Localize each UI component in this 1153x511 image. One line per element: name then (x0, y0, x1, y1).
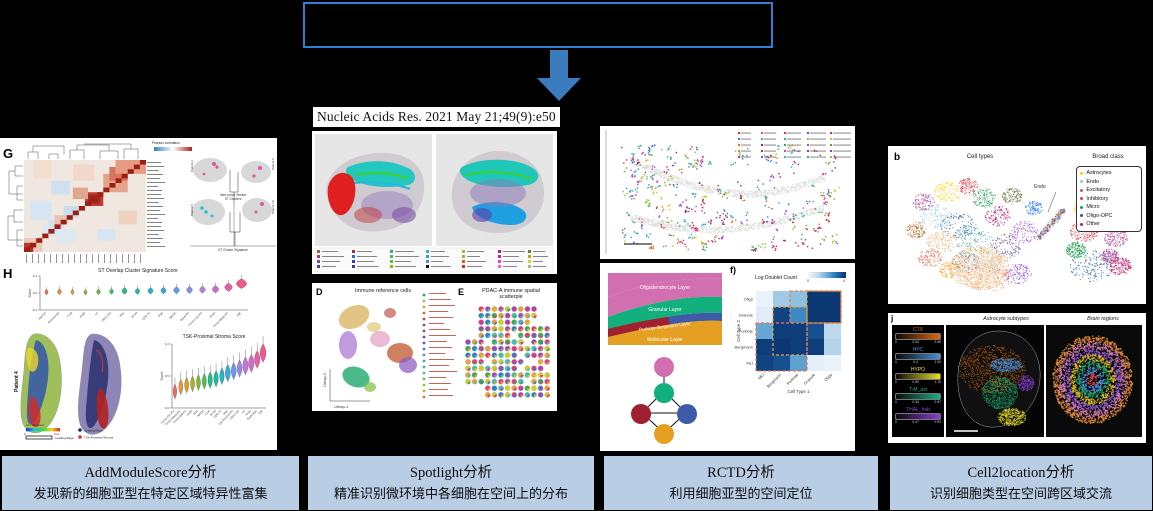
svg-text:Bergmann: Bergmann (735, 344, 753, 349)
svg-text:Mel-DC: Mel-DC (38, 311, 48, 321)
legend-swatch (1080, 223, 1083, 226)
caption-box-addmodulescore[interactable]: AddModuleScore分析 发现新的细胞亚型在特定区域特异性富集 (2, 456, 299, 510)
panel-label-e: E (458, 287, 464, 297)
svg-text:Bergmann: Bergmann (766, 372, 783, 389)
svg-text:Umap-2: Umap-2 (322, 372, 327, 387)
svg-text:Oligo: Oligo (823, 372, 834, 383)
svg-text:Score: Score (28, 288, 32, 297)
umap-mini-group: Inter-tumor Similar ST Clusters ST Clust… (190, 150, 276, 260)
legend-label: Astrocytes (1086, 170, 1111, 176)
svg-text:0.5: 0.5 (165, 374, 170, 378)
stroma-violin-title: TSK-Proximal Stroma Score (158, 334, 270, 340)
figure-panel-rctd-layers: Oligodendrocyte Layer Granular Layer Pur… (600, 263, 855, 451)
svg-text:Cell Type 2: Cell Type 2 (736, 320, 741, 342)
doublet-heatmap-panel: f) Log Doublet Count 0 4 OligoGranulePur… (726, 263, 854, 403)
svg-text:Leading Edge: Leading Edge (84, 429, 103, 433)
legend-item-inhibitory: Inhibitory (1080, 195, 1138, 204)
legend-swatch (1080, 180, 1083, 183)
caption-title-rctd: RCTD分析 (707, 464, 775, 482)
top-empty-box (303, 2, 773, 48)
svg-text:CD8-TC: CD8-TC (141, 311, 151, 321)
svg-text:Patient 2: Patient 2 (190, 160, 194, 172)
svg-text:Oligo: Oligo (744, 296, 754, 301)
svg-text:Patient 4: Patient 4 (14, 371, 20, 392)
legend-label: Other (1086, 221, 1099, 227)
panel-label-g: G (3, 146, 13, 161)
svg-text:Purkinje: Purkinje (785, 372, 799, 386)
broadclass-legend: AstrocytesEndoExcitatoryInhibitoryMicroO… (1076, 166, 1142, 232)
legend-item-endo: Endo (1080, 178, 1138, 187)
svg-text:CD1C-DC: CD1C-DC (100, 311, 112, 323)
svg-text:0.0: 0.0 (33, 291, 38, 295)
svg-text:0.1: 0.1 (33, 274, 38, 278)
svg-text:TSK: TSK (236, 311, 243, 318)
heatmap-row-labels (147, 160, 169, 252)
scatterpie-field (464, 305, 554, 403)
caption-subtitle-spotlight: 精准识别微环境中各细胞在空间上的分布 (334, 486, 568, 502)
svg-text:Patient 10: Patient 10 (271, 200, 275, 214)
svg-text:0: 0 (24, 432, 26, 436)
svg-text:Oligodendrocyte Layer: Oligodendrocyte Layer (640, 285, 691, 291)
svg-text:PSC: PSC (157, 311, 164, 318)
svg-text:Patient 5: Patient 5 (190, 204, 194, 216)
svg-text:Umap-1: Umap-1 (334, 404, 349, 409)
caption-subtitle-addmodulescore: 发现新的细胞亚型在特定区域特异性富集 (33, 486, 267, 502)
endo-callout-label: Endo (1034, 184, 1046, 190)
svg-text:Granular Layer: Granular Layer (648, 307, 682, 313)
figure-panel-cell2location-umap: b Cell types Broad class AstrocytesEndoE… (888, 146, 1146, 304)
caption-box-spotlight[interactable]: Spotlight分析 精准识别微环境中各细胞在空间上的分布 (308, 456, 594, 510)
caption-title-addmodulescore: AddModuleScore分析 (84, 464, 216, 482)
svg-text:TSK: TSK (257, 409, 264, 416)
legend-swatch (1080, 206, 1083, 209)
legend-item-excitatory: Excitatory (1080, 186, 1138, 195)
figure-panel-spotlight-pdac: D Immune reference cells Umap-2 Umap-1 (312, 283, 557, 411)
legend-label: Excitatory (1086, 187, 1110, 193)
legend-item-astrocytes: Astrocytes (1080, 169, 1138, 178)
figure-panel-cell2location-brain: j Astrocyte subtypes Brain regions CTX00… (888, 313, 1146, 443)
svg-text:Basal KC: Basal KC (179, 311, 190, 322)
svg-text:MLI: MLI (746, 360, 753, 365)
svg-text:sc-TSK score: sc-TSK score (26, 423, 44, 427)
svg-text:1.0: 1.0 (165, 342, 170, 346)
svg-text:ST Cluster Signature: ST Cluster Signature (218, 248, 248, 252)
legend-swatch (1080, 189, 1083, 192)
violin-chart-title: ST Overlap Cluster Signature Score (58, 268, 218, 274)
heatmap-legend-title: Pearson correlation (152, 141, 180, 145)
heatmap-left-dendrogram (5, 160, 23, 252)
svg-text:Granule: Granule (739, 312, 754, 317)
figure-panel-spotlight-brains (312, 131, 557, 274)
panel-e-title: PDAC-A immune spatial scatterpie (472, 288, 550, 300)
svg-text:TSK-Proximal Stroma: TSK-Proximal Stroma (84, 436, 113, 440)
svg-text:ST Clusters: ST Clusters (225, 197, 242, 201)
svg-text:-0.1: -0.1 (32, 308, 38, 312)
legend-label: Inhibitory (1086, 196, 1108, 202)
legend-label: Endo (1086, 179, 1099, 185)
caption-box-rctd[interactable]: RCTD分析 利用细胞亚型的空间定位 (604, 456, 878, 510)
figure-panel-addmodulescore: G (0, 138, 277, 450)
svg-text:Mac: Mac (119, 310, 126, 317)
svg-text:B-cell: B-cell (130, 311, 138, 319)
svg-text:Score: Score (160, 371, 164, 380)
legend-item-other: Other (1080, 220, 1138, 229)
svg-text:Cell Type 1: Cell Type 1 (788, 389, 810, 394)
legend-item-micro: Micro (1080, 203, 1138, 212)
violin-chart-tsk-stroma: TSK-Proximal Stroma Score 1.00.50.0Score… (152, 334, 272, 442)
heatmap-col-labels (24, 253, 146, 265)
caption-title-spotlight: Spotlight分析 (410, 464, 492, 482)
svg-text:NK/DC: NK/DC (168, 311, 177, 320)
svg-text:Leading Edge: Leading Edge (55, 436, 74, 440)
caption-subtitle-cell2location: 识别细胞类型在空间跨区域交流 (930, 486, 1112, 502)
legend-swatch (1080, 197, 1083, 200)
svg-text:MLI: MLI (757, 372, 765, 380)
svg-text:LC: LC (94, 311, 99, 316)
down-arrow-icon (531, 50, 587, 102)
cell-type-graph (624, 355, 704, 445)
svg-text:Eryth: Eryth (79, 311, 87, 319)
heatmap-top-dendrogram (24, 142, 146, 159)
cerebellum-layers-diagram: Oligodendrocyte Layer Granular Layer Pur… (604, 267, 726, 351)
caption-subtitle-rctd: 利用细胞亚型的空间定位 (669, 486, 812, 502)
figure-panel-rctd-spatial (600, 126, 855, 259)
legend-item-oligo-opc: Oligo-OPC (1080, 212, 1138, 221)
svg-text:T-cell: T-cell (66, 311, 74, 319)
heatmap-colorbar (154, 147, 192, 151)
caption-box-cell2location[interactable]: Cell2location分析 识别细胞类型在空间跨区域交流 (890, 456, 1152, 510)
legend-swatch (1080, 214, 1083, 217)
svg-text:Endo: Endo (209, 311, 217, 319)
svg-text:Patient 9: Patient 9 (271, 158, 275, 170)
citation-label: Nucleic Acids Res. 2021 May 21;49(9):e50 (313, 107, 560, 127)
svg-text:Granulocyte: Granulocyte (47, 311, 61, 325)
caption-title-cell2location: Cell2location分析 (967, 464, 1074, 482)
legend-label: Micro (1086, 204, 1099, 210)
svg-text:0.0: 0.0 (165, 406, 170, 410)
spatial-tissue-images: sc-TSK score 0 Max Leading Edge Leading … (14, 330, 149, 442)
svg-text:Granule: Granule (803, 372, 817, 386)
correlation-heatmap (24, 160, 146, 252)
panel-label-h: H (3, 266, 12, 281)
legend-swatch (1080, 172, 1083, 175)
legend-label: Oligo-OPC (1086, 213, 1112, 219)
svg-text:Molecular Layer: Molecular Layer (647, 337, 683, 343)
violin-chart-st-overlap: ST Overlap Cluster Signature Score 0.10.… (18, 268, 254, 330)
